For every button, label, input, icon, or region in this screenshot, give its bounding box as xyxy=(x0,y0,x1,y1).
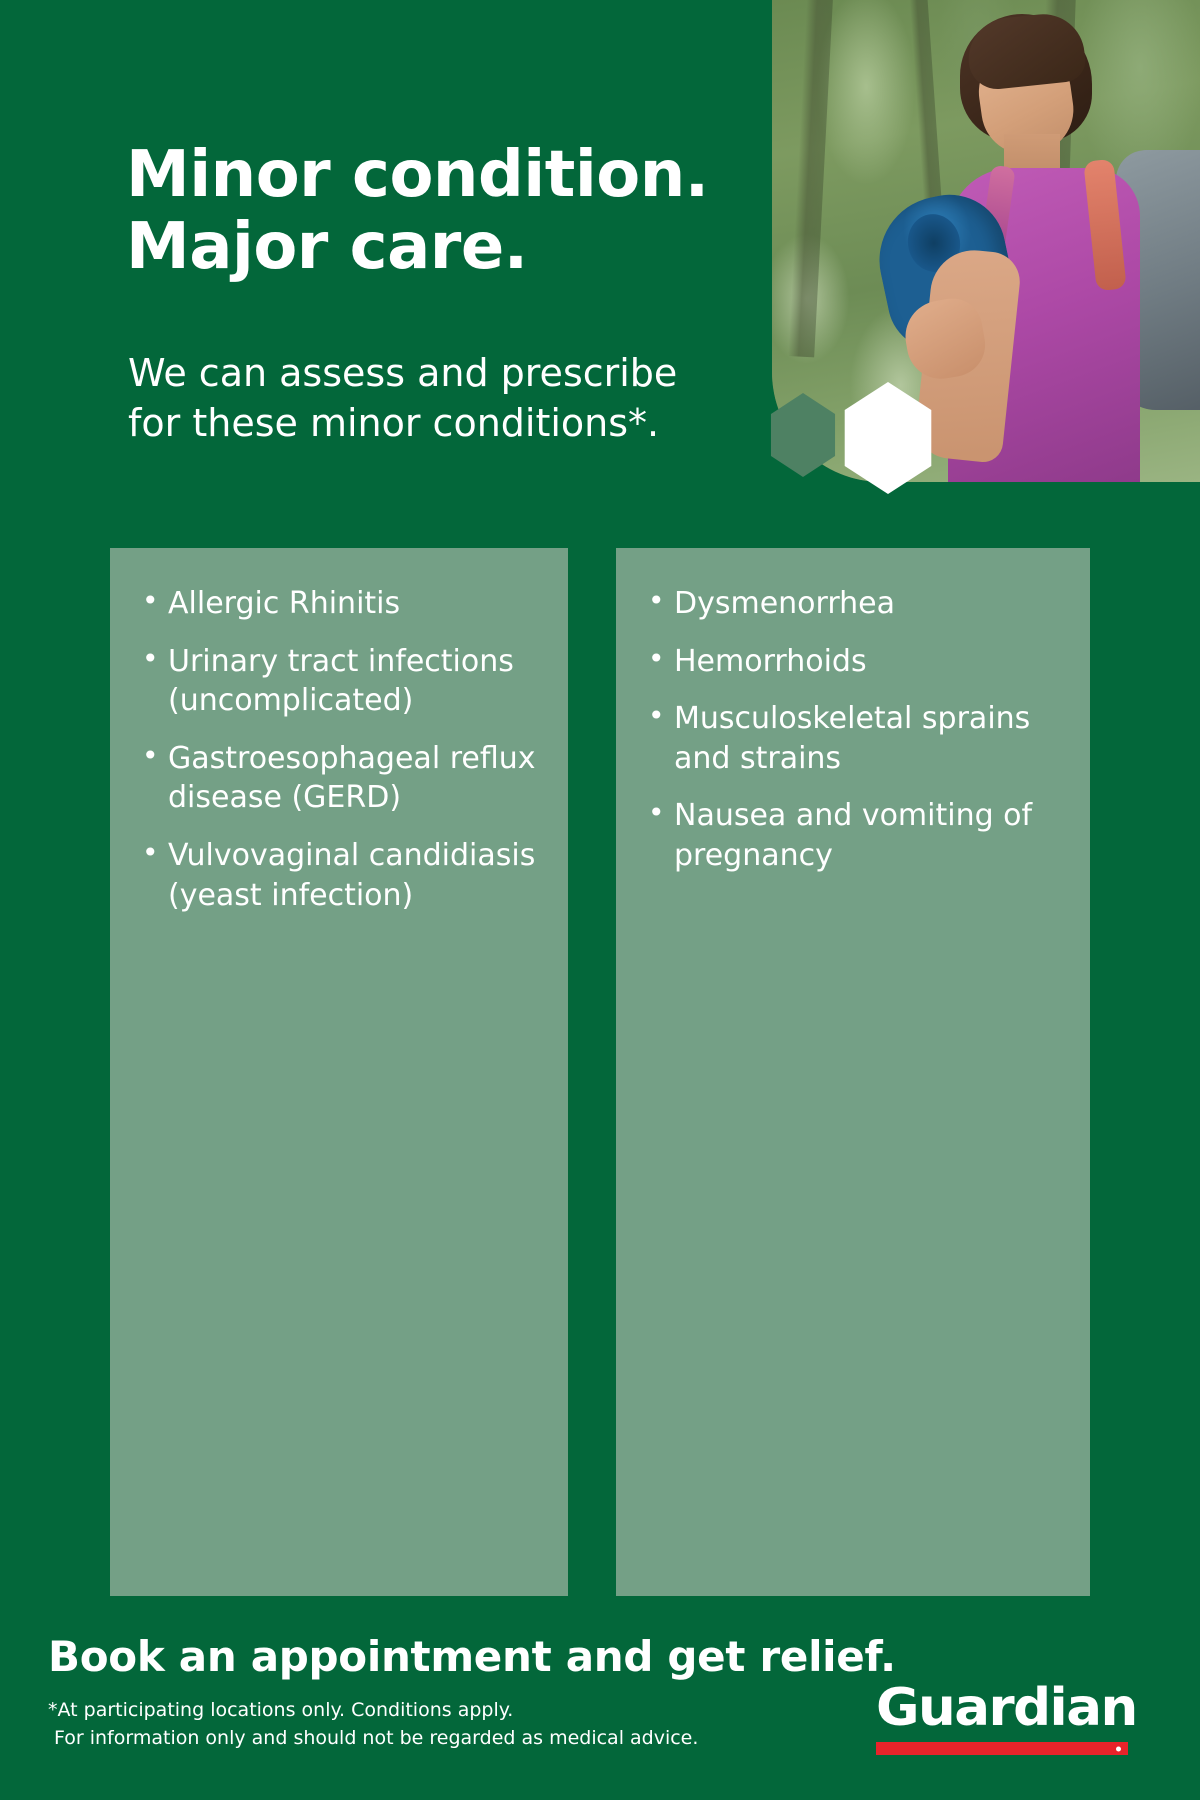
page-title: Minor condition. Major care. xyxy=(126,140,806,283)
list-item: Gastroesophageal reflux disease (GERD) xyxy=(138,739,538,818)
list-item: Hemorrhoids xyxy=(644,642,1060,682)
conditions-panel-left: Allergic Rhinitis Urinary tract infectio… xyxy=(110,548,568,1596)
subhead-line-2: for these minor conditions*. xyxy=(128,398,748,448)
page-subtitle: We can assess and prescribe for these mi… xyxy=(128,348,748,448)
list-item: Musculoskeletal sprains and strains xyxy=(644,699,1060,778)
disclaimer-line-1: *At participating locations only. Condit… xyxy=(48,1699,513,1721)
conditions-list-right: Dysmenorrhea Hemorrhoids Musculoskeletal… xyxy=(644,584,1060,876)
logo-wordmark: Guardian xyxy=(876,1682,1133,1734)
headline-line-2: Major care. xyxy=(126,212,806,284)
disclaimer-line-2: For information only and should not be r… xyxy=(48,1725,698,1753)
list-item: Dysmenorrhea xyxy=(644,584,1060,624)
hero-photo xyxy=(772,0,1200,482)
list-item: Allergic Rhinitis xyxy=(138,584,538,624)
conditions-panels: Allergic Rhinitis Urinary tract infectio… xyxy=(110,548,1090,1596)
list-item: Nausea and vomiting of pregnancy xyxy=(644,796,1060,875)
logo-underline-rule xyxy=(876,1742,1128,1755)
cta-text: Book an appointment and get relief. xyxy=(48,1632,896,1681)
list-item: Vulvovaginal candidiasis (yeast infectio… xyxy=(138,836,538,915)
disclaimer: *At participating locations only. Condit… xyxy=(48,1697,698,1752)
conditions-list-left: Allergic Rhinitis Urinary tract infectio… xyxy=(138,584,538,915)
subhead-line-1: We can assess and prescribe xyxy=(128,351,677,395)
poster-canvas: Minor condition. Major care. We can asse… xyxy=(0,0,1200,1800)
guardian-logo: Guardian xyxy=(876,1682,1128,1755)
conditions-panel-right: Dysmenorrhea Hemorrhoids Musculoskeletal… xyxy=(616,548,1090,1596)
list-item: Urinary tract infections (uncomplicated) xyxy=(138,642,538,721)
headline-line-1: Minor condition. xyxy=(126,138,709,212)
